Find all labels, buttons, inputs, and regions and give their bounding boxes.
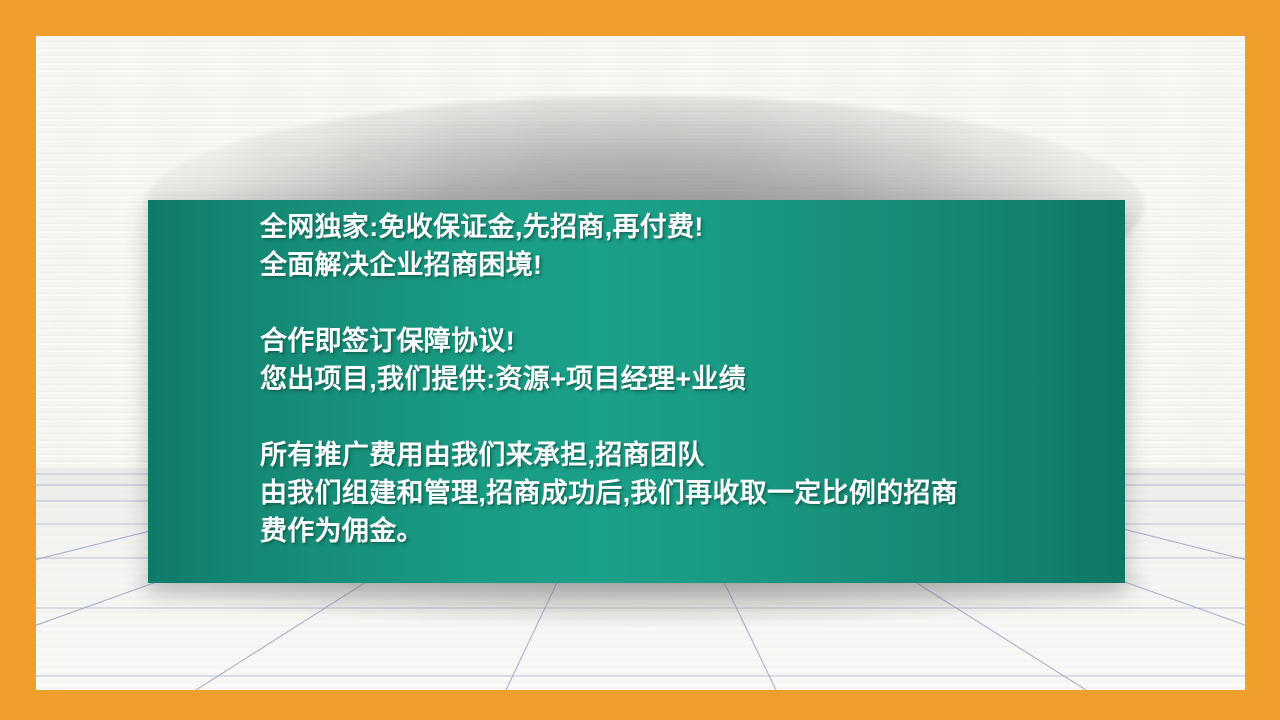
- green-text-panel: 全网独家:免收保证金,先招商,再付费! 全面解决企业招商困境! 合作即签订保障协…: [148, 200, 1125, 583]
- panel-line-spacer-2: [260, 398, 1101, 436]
- panel-line-2: 全面解决企业招商困境!: [260, 246, 1101, 284]
- panel-line-5: 所有推广费用由我们来承担,招商团队: [260, 436, 1101, 474]
- border-bottom: [0, 690, 1280, 720]
- border-left: [0, 0, 36, 720]
- border-top: [0, 0, 1280, 36]
- panel-line-1: 全网独家:免收保证金,先招商,再付费!: [260, 208, 1101, 246]
- panel-text-block: 全网独家:免收保证金,先招商,再付费! 全面解决企业招商困境! 合作即签订保障协…: [260, 208, 1101, 583]
- slide-canvas: 全网独家:免收保证金,先招商,再付费! 全面解决企业招商困境! 合作即签订保障协…: [0, 0, 1280, 720]
- panel-line-7: 费作为佣金。: [260, 512, 1101, 550]
- border-right: [1245, 0, 1280, 720]
- panel-line-6: 由我们组建和管理,招商成功后,我们再收取一定比例的招商: [260, 474, 1101, 512]
- panel-line-spacer-1: [260, 284, 1101, 322]
- panel-line-4: 您出项目,我们提供:资源+项目经理+业绩: [260, 360, 1101, 398]
- panel-line-3: 合作即签订保障协议!: [260, 322, 1101, 360]
